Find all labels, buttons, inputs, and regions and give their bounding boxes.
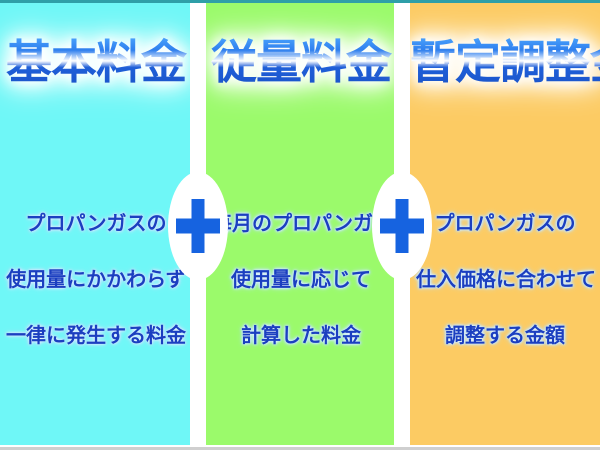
panel-zantei-chouseikin: 暫定調整金 プロパンガスの 仕入価格に合わせて 調整する金額 (410, 3, 600, 445)
panel-body-juryo-ryokin: 毎月のプロパンガス 使用量に応じて 計算した料金 (212, 195, 390, 363)
plus-icon-horizontal-bar (380, 219, 424, 234)
plus-icon (380, 199, 424, 253)
operator-plus-1 (168, 172, 228, 280)
panel-body-kihon-ryokin: プロパンガスの 使用量にかかわらず 一律に発生する料金 (6, 195, 186, 363)
body-line: プロパンガスの (416, 195, 594, 251)
panel-kihon-ryokin: 基本料金 プロパンガスの 使用量にかかわらず 一律に発生する料金 (0, 3, 192, 445)
body-line: 調整する金額 (416, 307, 594, 363)
plus-icon-horizontal-bar (176, 219, 220, 234)
plus-icon (176, 199, 220, 253)
body-line: 一律に発生する料金 (6, 307, 186, 363)
body-line: 毎月のプロパンガス (212, 195, 390, 251)
panel-heading-zantei-chouseikin: 暫定調整金 (410, 35, 600, 89)
panel-heading-kihon-ryokin: 基本料金 (0, 35, 192, 89)
body-line: プロパンガスの (6, 195, 186, 251)
top-edge-rule (0, 0, 600, 3)
body-line: 計算した料金 (212, 307, 390, 363)
infographic-canvas: 基本料金 プロパンガスの 使用量にかかわらず 一律に発生する料金 従量料金 毎月… (0, 0, 600, 450)
body-line: 使用量にかかわらず (6, 251, 186, 307)
panel-juryo-ryokin: 従量料金 毎月のプロパンガス 使用量に応じて 計算した料金 (206, 3, 396, 445)
body-line: 使用量に応じて (212, 251, 390, 307)
operator-plus-2 (372, 172, 432, 280)
panel-heading-juryo-ryokin: 従量料金 (206, 35, 396, 89)
body-line: 仕入価格に合わせて (416, 251, 594, 307)
panel-body-zantei-chouseikin: プロパンガスの 仕入価格に合わせて 調整する金額 (416, 195, 594, 363)
